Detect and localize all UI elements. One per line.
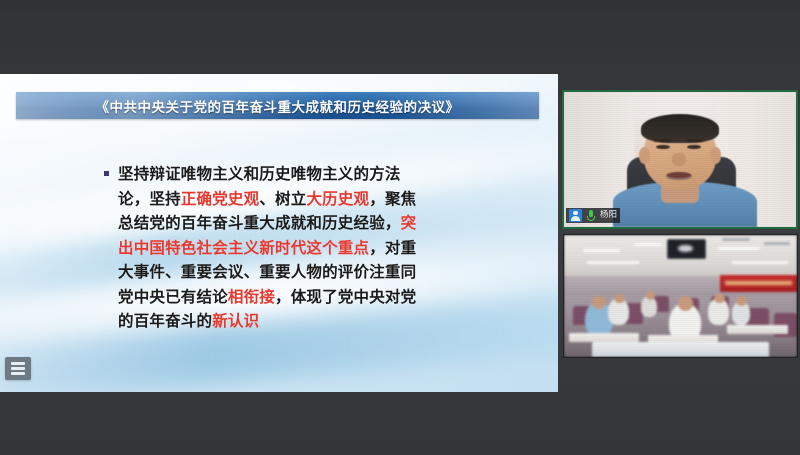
slide-body: 坚持辩证唯物主义和历史唯物主义的方法论，坚持正确党史观、树立大历史观，聚焦总结党…: [104, 162, 524, 334]
attendee-head: [678, 296, 693, 311]
eye: [656, 145, 670, 150]
bullet-text-highlight: 新认识: [212, 312, 259, 330]
slide-title-banner: 《中共中央关于党的百年奋斗重大成就和历史经验的决议》: [16, 92, 539, 119]
bullet-text-plain: 、树立: [259, 190, 306, 208]
participant-tile-speaker[interactable]: 杨阳: [562, 90, 798, 229]
bullet-text-highlight: 大历史观: [306, 190, 369, 208]
ear: [639, 147, 649, 163]
menu-line: [11, 367, 25, 370]
speaker-video-feed: [564, 92, 796, 227]
attendee-head: [714, 294, 724, 304]
square-bullet-icon: [104, 171, 109, 176]
mouth: [666, 172, 692, 181]
ceiling-light: [587, 261, 638, 264]
ceiling-vent: [722, 238, 750, 241]
attendee-head: [614, 294, 624, 304]
ceiling-light: [718, 247, 760, 250]
eyebrow: [687, 139, 703, 142]
desk: [727, 325, 788, 334]
meeting-screen: 《中共中央关于党的百年奋斗重大成就和历史经验的决议》 坚持辩证唯物主义和历史唯物…: [0, 0, 800, 455]
front-desk: [592, 342, 769, 357]
ceiling-light: [583, 249, 620, 252]
projector: [667, 239, 707, 260]
ceiling-light: [732, 261, 788, 264]
bottom-chrome-bar: [0, 392, 800, 455]
eye: [687, 145, 701, 150]
red-banner: [720, 275, 797, 292]
menu-line: [11, 362, 25, 365]
bullet-text-highlight: 正确党史观: [181, 190, 260, 208]
bullet-row: 坚持辩证唯物主义和历史唯物主义的方法论，坚持正确党史观、树立大历史观，聚焦总结党…: [104, 162, 524, 334]
participant-name-badge: 杨阳: [566, 208, 620, 223]
slide-title-text: 《中共中央关于党的百年奋斗重大成就和历史经验的决议》: [96, 96, 460, 116]
hair: [641, 114, 720, 144]
ceiling-vent: [764, 242, 790, 244]
attendee-head: [736, 296, 746, 306]
bullet-text-highlight: 相衔接: [228, 288, 275, 306]
desk: [569, 333, 639, 343]
ear: [710, 147, 720, 163]
list-menu-icon[interactable]: [5, 357, 31, 380]
bullet-text: 坚持辩证唯物主义和历史唯物主义的方法论，坚持正确党史观、树立大历史观，聚焦总结党…: [118, 162, 418, 334]
ceiling-light: [634, 243, 662, 246]
user-icon: [569, 209, 582, 222]
participant-tile-room[interactable]: [563, 234, 798, 358]
top-chrome-bar: [0, 0, 800, 74]
menu-line: [11, 372, 25, 375]
microphone-icon[interactable]: [585, 209, 597, 222]
attendee-head: [646, 291, 655, 300]
eyebrow: [654, 139, 670, 142]
nose: [672, 153, 686, 167]
participant-name: 杨阳: [600, 208, 617, 223]
shared-slide[interactable]: 《中共中央关于党的百年奋斗重大成就和历史经验的决议》 坚持辩证唯物主义和历史唯物…: [0, 74, 558, 392]
room-video-feed: [564, 235, 797, 357]
